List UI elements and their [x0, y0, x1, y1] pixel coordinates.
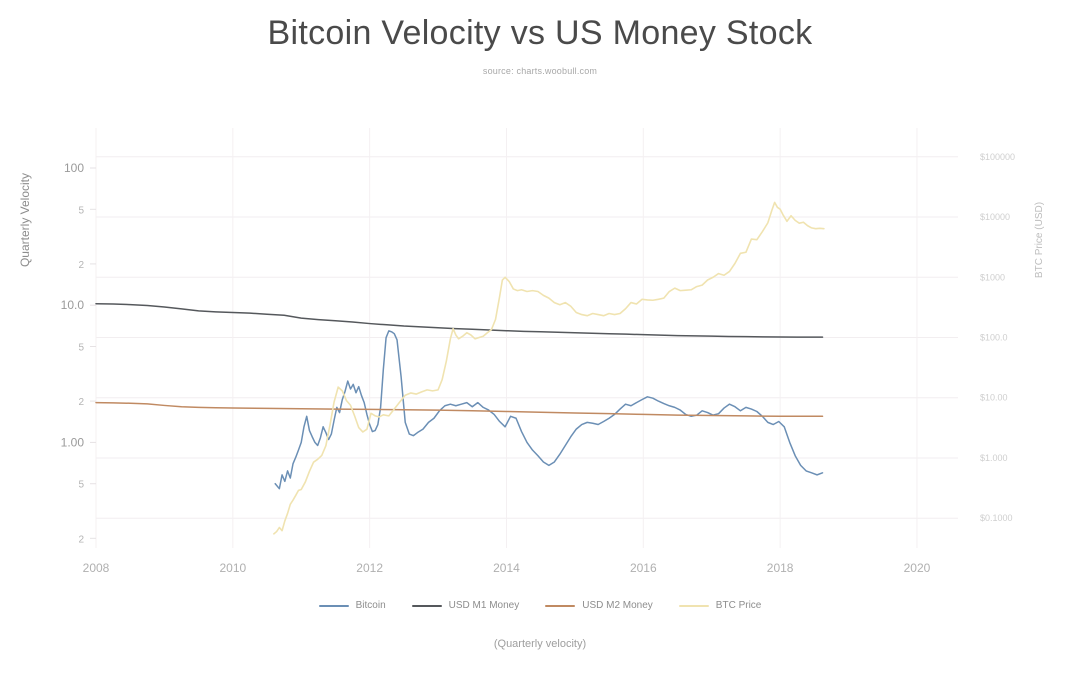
chart-legend: BitcoinUSD M1 MoneyUSD M2 MoneyBTC Price [0, 600, 1080, 611]
x-tick-label: 2010 [219, 561, 246, 575]
y-axis-label-left: Quarterly Velocity [18, 150, 32, 290]
x-tick-label: 2008 [83, 561, 110, 575]
y-tick-label-left: 1.00 [61, 435, 85, 449]
legend-swatch-icon [545, 605, 575, 607]
legend-item-btc-price[interactable]: BTC Price [679, 600, 762, 611]
legend-item-usd-m1-money[interactable]: USD M1 Money [412, 600, 520, 611]
y-tick-label-right: $100.0 [980, 332, 1008, 342]
x-tick-label: 2014 [493, 561, 520, 575]
y-tick-label-left: 5 [78, 343, 84, 354]
x-tick-label: 2016 [630, 561, 657, 575]
legend-label: BTC Price [716, 600, 762, 611]
legend-swatch-icon [679, 605, 709, 607]
legend-label: Bitcoin [356, 600, 386, 611]
line-chart-svg: 1005210.0521.0052$100000$10000$1000$100.… [0, 0, 1080, 675]
y-tick-label-left: 2 [78, 397, 84, 408]
y-tick-label-left: 2 [78, 260, 84, 271]
y-tick-label-left: 5 [78, 205, 84, 216]
x-tick-label: 2018 [767, 561, 794, 575]
y-axis-label-right: BTC Price (USD) [1034, 180, 1045, 300]
y-tick-label-right: $10000 [980, 212, 1010, 222]
y-tick-label-left: 100 [64, 161, 84, 175]
legend-swatch-icon [319, 605, 349, 607]
x-tick-label: 2012 [356, 561, 383, 575]
y-tick-label-right: $1.000 [980, 453, 1008, 463]
legend-item-bitcoin[interactable]: Bitcoin [319, 600, 386, 611]
y-tick-label-right: $100000 [980, 152, 1015, 162]
y-tick-label-left: 10.0 [61, 298, 85, 312]
x-tick-label: 2020 [904, 561, 931, 575]
legend-swatch-icon [412, 605, 442, 607]
legend-label: USD M1 Money [449, 600, 520, 611]
series-line-btc-price [274, 202, 824, 533]
y-tick-label-left: 2 [78, 534, 84, 545]
y-tick-label-left: 5 [78, 480, 84, 491]
series-line-usd-m1-money [96, 304, 823, 337]
y-tick-label-right: $10.00 [980, 393, 1008, 403]
legend-label: USD M2 Money [582, 600, 653, 611]
legend-item-usd-m2-money[interactable]: USD M2 Money [545, 600, 653, 611]
y-tick-label-right: $0.1000 [980, 513, 1013, 523]
y-tick-label-right: $1000 [980, 272, 1005, 282]
chart-root: Bitcoin Velocity vs US Money Stock sourc… [0, 0, 1080, 675]
chart-footnote: (Quarterly velocity) [0, 638, 1080, 650]
